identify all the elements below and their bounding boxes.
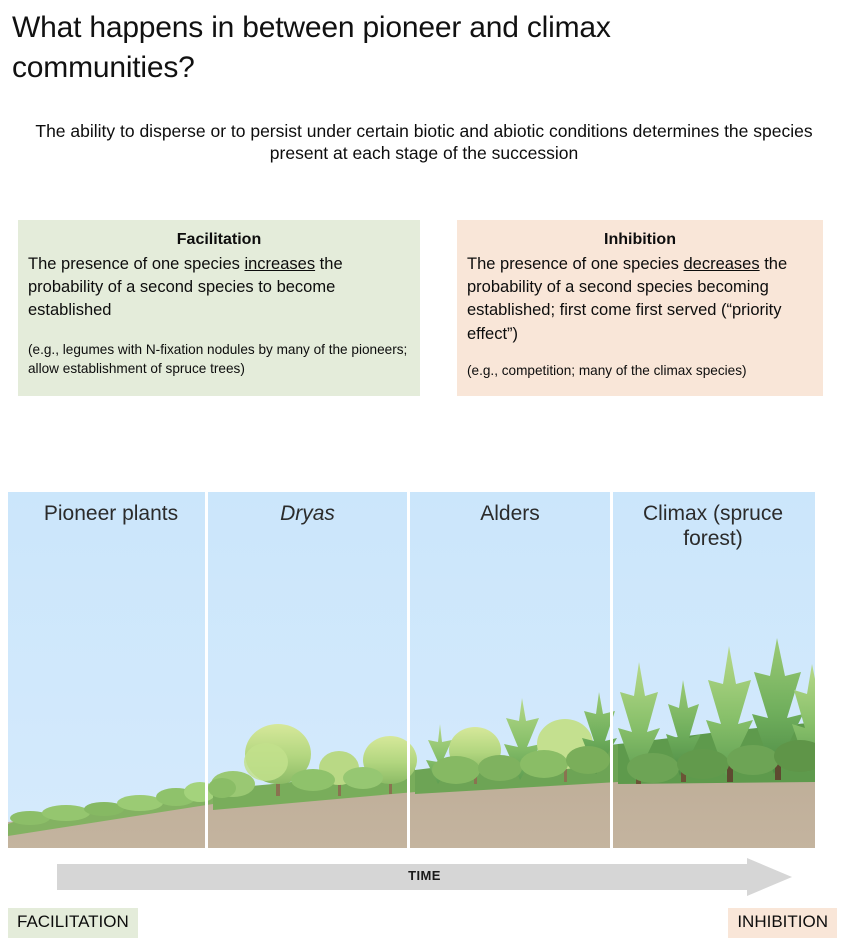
figure-bottom-edge — [8, 848, 815, 852]
concept-text-before: The presence of one species — [467, 255, 683, 273]
stage-label-climax: Climax (spruce forest) — [613, 502, 813, 552]
concept-text-emphasis: decreases — [683, 255, 759, 273]
stage-divider-2 — [407, 492, 410, 852]
concept-box-inhibition: Inhibition The presence of one species d… — [457, 220, 823, 396]
concept-heading-facilitation: Facilitation — [28, 229, 410, 251]
concept-text-before: The presence of one species — [28, 255, 244, 273]
stage-label-alders: Alders — [410, 502, 610, 527]
page-title: What happens in between pioneer and clim… — [12, 8, 772, 87]
succession-figure: Pioneer plants Dryas Alders Climax (spru… — [8, 492, 815, 852]
concept-example-facilitation: (e.g., legumes with N-fixation nodules b… — [28, 340, 410, 378]
stage-label-dryas: Dryas — [208, 502, 407, 527]
concept-body-inhibition: The presence of one species decreases th… — [467, 253, 813, 347]
concept-box-facilitation: Facilitation The presence of one species… — [18, 220, 420, 396]
time-axis: TIME — [57, 858, 792, 896]
stage-label-pioneer: Pioneer plants — [16, 502, 206, 527]
page-subtitle: The ability to disperse or to persist un… — [24, 120, 824, 165]
concept-heading-inhibition: Inhibition — [467, 229, 813, 251]
stage-divider-1 — [205, 492, 208, 852]
tag-facilitation: FACILITATION — [8, 908, 138, 938]
concept-body-facilitation: The presence of one species increases th… — [28, 253, 410, 323]
concept-text-emphasis: increases — [244, 255, 315, 273]
tag-inhibition: INHIBITION — [728, 908, 837, 938]
time-axis-label: TIME — [57, 868, 792, 883]
concept-example-inhibition: (e.g., competition; many of the climax s… — [467, 361, 813, 380]
